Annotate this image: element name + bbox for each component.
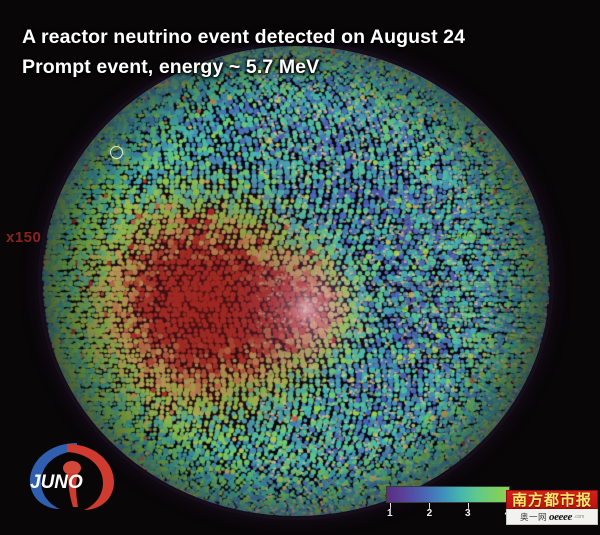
watermark-sub-tiny: .com [574, 514, 584, 520]
watermark-banner: 南方都市报 [506, 490, 598, 509]
watermark-sub-en: oeeee [549, 511, 572, 523]
page-title: A reactor neutrino event detected on Aug… [22, 22, 465, 52]
x-axis-label: x150 [6, 229, 41, 246]
event-display-screenshot: A reactor neutrino event detected on Aug… [0, 0, 600, 535]
charge-colorbar: 1234 [386, 486, 510, 521]
juno-logo: JUNO [20, 435, 124, 513]
watermark-sub-cn: 奥一网 [520, 511, 547, 523]
detector-id-label: 9001 [452, 228, 481, 243]
logo-wordmark: JUNO [30, 472, 83, 493]
colorbar-gradient [386, 486, 510, 503]
colorbar-tick-label: 3 [465, 508, 471, 519]
ring-marker-icon [110, 146, 123, 159]
watermark: 南方都市报 奥一网 oeeee .com [506, 490, 598, 525]
watermark-sub: 奥一网 oeeee .com [506, 509, 598, 525]
colorbar-tick-label: 1 [387, 508, 393, 519]
title-block: A reactor neutrino event detected on Aug… [22, 22, 465, 82]
page-subtitle: Prompt event, energy ~ 5.7 MeV [22, 52, 465, 82]
colorbar-tick-label: 2 [427, 508, 433, 519]
colorbar-ticks: 1234 [386, 503, 510, 521]
